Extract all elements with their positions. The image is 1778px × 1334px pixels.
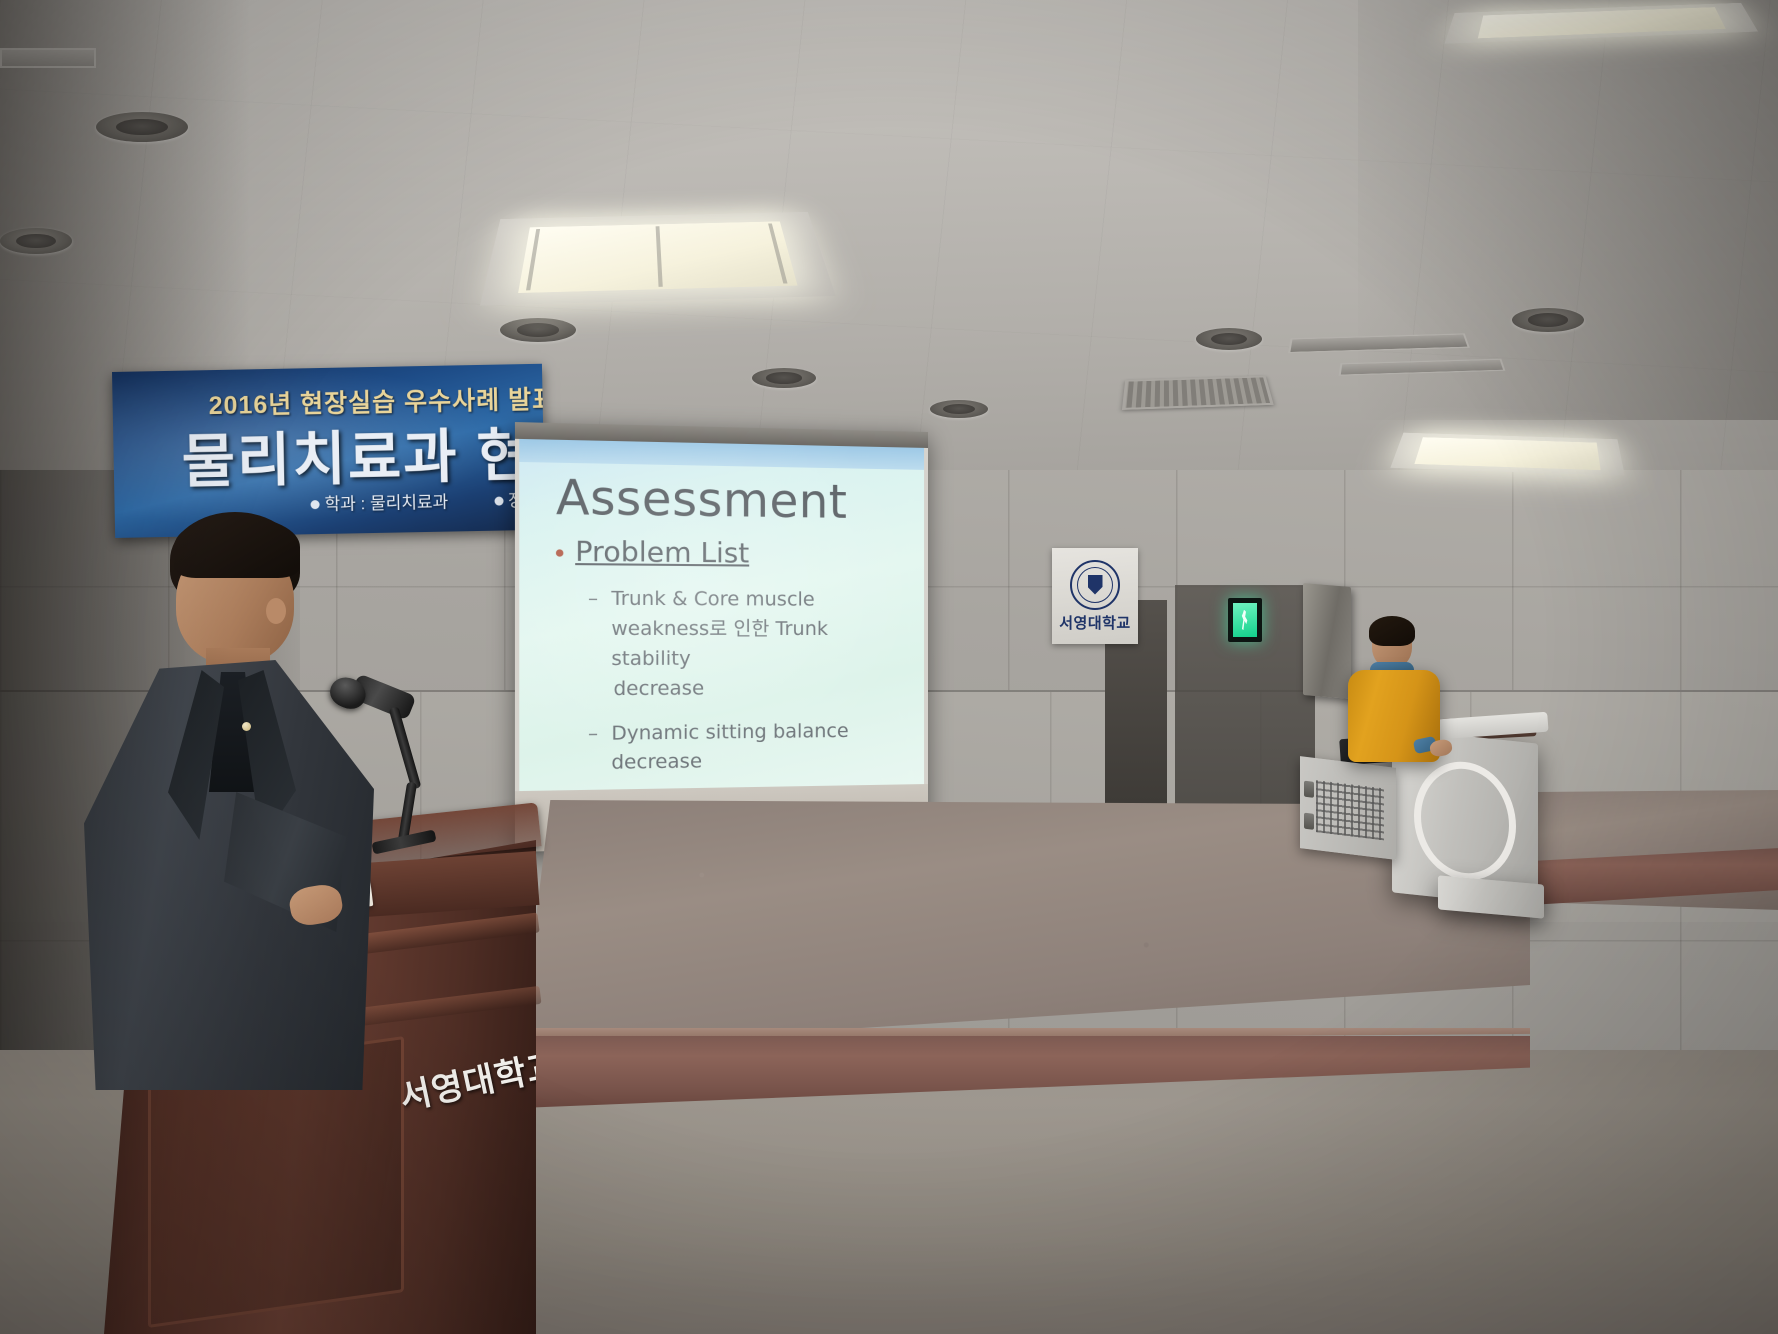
university-name-text: 서영대학교 [1059,612,1131,633]
university-crest-plaque: 서영대학교 [1052,548,1138,644]
rack-latch-bottom [1304,813,1314,830]
downlight-4 [752,368,816,388]
list-item-text: Dynamic sitting balance decrease [611,719,848,774]
ceiling-air-diffuser [1122,376,1274,410]
list-item: Dynamic sitting balance decrease [588,716,908,779]
downlight-6 [1196,328,1262,350]
downlight-5 [930,400,988,418]
slide-problem-list: Trunk & Core muscle weakness로 인한 Trunk s… [588,584,908,791]
console-oval-cutout [1414,757,1516,886]
light-panel-glow-topright [1478,7,1726,38]
rack-latch-top [1304,781,1314,798]
list-item-text-cont: decrease [611,673,908,704]
banner-line-2: 물리치료과 현장실습 [181,405,545,499]
ceiling-slot-vent-3 [0,48,96,68]
banner-bullet-1 [310,500,319,509]
projection-screen: Assessment Problem List Trunk & Core mus… [515,422,928,852]
slide-title: Assessment [556,469,848,529]
rack-vent-holes [1316,780,1384,840]
presentation-slide: Assessment Problem List Trunk & Core mus… [519,439,924,791]
exit-sign-face [1233,603,1257,636]
presenter-person [78,512,378,1212]
light-panel-glow-right [1415,437,1600,470]
downlight-7 [1512,308,1584,332]
running-person-icon [1241,610,1249,631]
list-item: Trunk & Core muscle weakness로 인한 Trunk s… [588,584,908,704]
banner-dept-label: 학과 : 물리치료과 [324,493,448,514]
exit-sign [1228,598,1262,642]
slide-bullet-heading: Problem List [575,536,749,570]
presenter-lapel-pin [242,722,251,731]
list-item-text: Trunk & Core muscle weakness로 인한 Trunk s… [611,587,828,670]
crest-shield-icon [1088,575,1103,595]
ceiling-light-panel-main [480,212,836,306]
downlight-1 [96,112,188,142]
av-operator-person [1330,614,1450,774]
university-crest-icon [1070,560,1120,610]
downlight-2 [0,228,72,254]
lecture-hall-photo: 서영대학교 [0,0,1778,1334]
ceiling-right-shadow [1358,0,1778,420]
banner-line-3: 학과 : 물리치료과장소 [310,486,539,515]
banner-bullet-2 [494,497,503,506]
downlight-3 [500,318,576,342]
presenter-hair-top [174,516,300,578]
av-operator-hair [1369,616,1415,646]
presenter-ear [266,598,286,624]
